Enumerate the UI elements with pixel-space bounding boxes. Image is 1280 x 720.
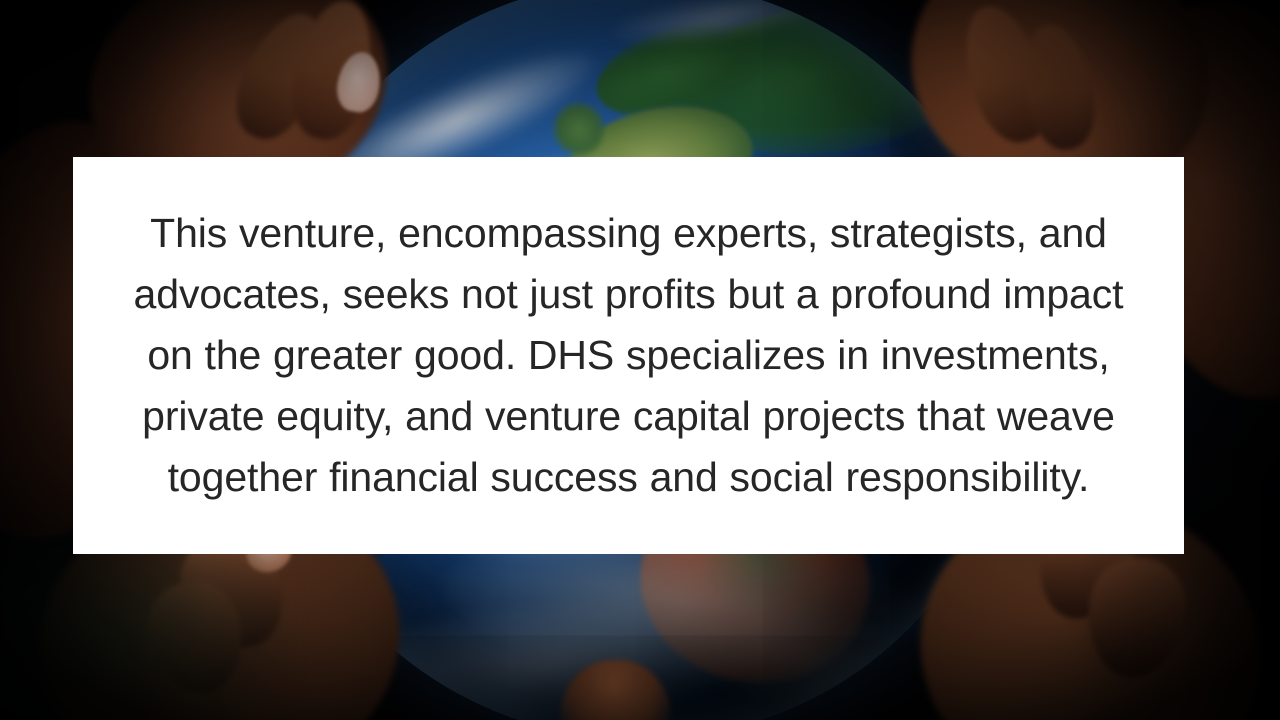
- text-card: This venture, encompassing experts, stra…: [73, 157, 1184, 554]
- slide-stage: This venture, encompassing experts, stra…: [0, 0, 1280, 720]
- slide-body-text: This venture, encompassing experts, stra…: [107, 203, 1150, 508]
